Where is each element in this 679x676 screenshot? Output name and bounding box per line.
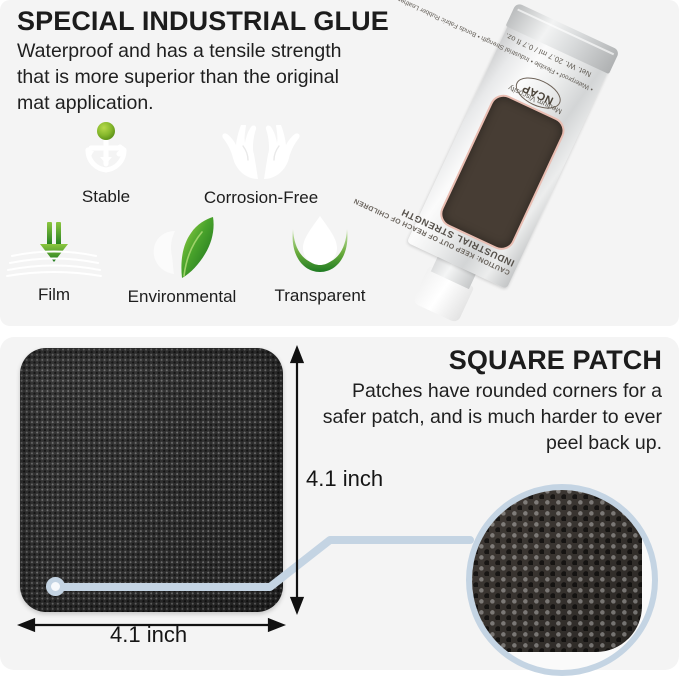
infographic-stage: SPECIAL INDUSTRIAL GLUE Waterproof and h… xyxy=(0,0,679,670)
feature-stable: Stable xyxy=(52,118,160,207)
patch-section-title: SQUARE PATCH xyxy=(449,345,662,376)
glue-tube-graphic: NCAP INDUSTRIAL STRENGTH CAUTION: KEEP O… xyxy=(401,0,623,302)
square-patch-image xyxy=(20,348,283,612)
magnified-weave-texture xyxy=(466,484,642,652)
feature-transparent: Transparent xyxy=(258,213,382,306)
down-arrow-ripple-icon xyxy=(0,218,108,283)
feature-label: Environmental xyxy=(106,287,258,307)
feature-corrosion-free: Corrosion-Free xyxy=(180,125,342,208)
leaf-icon xyxy=(106,212,258,285)
anchor-icon xyxy=(52,118,160,185)
hands-icon xyxy=(180,125,342,186)
feature-film: Film xyxy=(0,218,108,305)
callout-anchor-knob xyxy=(46,577,65,596)
water-droplet-icon xyxy=(258,213,382,284)
feature-environmental: Environmental xyxy=(106,212,258,307)
glue-tube-image: NCAP INDUSTRIAL STRENGTH CAUTION: KEEP O… xyxy=(395,0,645,322)
glue-panel: SPECIAL INDUSTRIAL GLUE Waterproof and h… xyxy=(0,0,679,326)
height-dimension-label: 4.1 inch xyxy=(306,466,383,492)
feature-label: Stable xyxy=(52,187,160,207)
glue-section-description: Waterproof and has a tensile strength th… xyxy=(17,38,357,116)
patch-section-description: Patches have rounded corners for a safer… xyxy=(322,378,662,456)
glue-section-title: SPECIAL INDUSTRIAL GLUE xyxy=(17,6,389,37)
width-dimension-label: 4.1 inch xyxy=(110,622,187,648)
feature-label: Film xyxy=(0,285,108,305)
feature-label: Transparent xyxy=(258,286,382,306)
feature-label: Corrosion-Free xyxy=(180,188,342,208)
patch-texture-magnifier xyxy=(466,484,658,676)
